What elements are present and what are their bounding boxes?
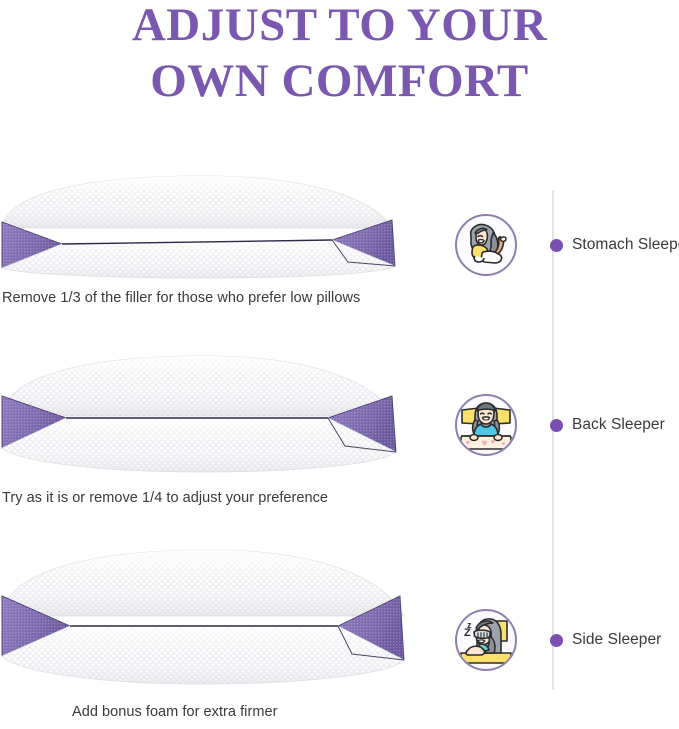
svg-text:Z: Z: [464, 627, 471, 639]
timeline-dot-side: [550, 634, 563, 647]
sleeper-label-side: Side Sleeper: [572, 631, 661, 649]
timeline-dot-stomach: [550, 239, 563, 252]
pillow-illustration-low: [0, 170, 400, 282]
timeline-vertical-line: [552, 190, 554, 690]
pillow-illustration-firm: [0, 548, 410, 694]
back-sleeper-icon: [455, 394, 517, 456]
page-title-line-2: OWN COMFORT: [0, 49, 679, 105]
pillow-image-firm: [0, 548, 400, 694]
pillow-row-low: Remove 1/3 of the filler for those who p…: [0, 170, 440, 306]
pillow-row-medium: Try as it is or remove 1/4 to adjust you…: [0, 352, 440, 506]
sleeper-item-side[interactable]: z Z Side Sleeper: [455, 609, 517, 671]
sleeper-item-stomach[interactable]: Stomach Sleeper: [455, 214, 517, 276]
pillow-image-medium: [0, 352, 400, 480]
pillow-caption-medium: Try as it is or remove 1/4 to adjust you…: [2, 490, 440, 506]
pillow-row-firm: Add bonus foam for extra firmer: [0, 548, 440, 720]
sleeper-item-back[interactable]: Back Sleeper: [455, 394, 517, 456]
page-title: ADJUST TO YOUR OWN COMFORT: [0, 0, 679, 105]
pillow-image-low: [0, 170, 400, 282]
timeline-dot-back: [550, 419, 563, 432]
side-sleeper-icon: z Z: [455, 609, 517, 671]
sleeper-label-stomach: Stomach Sleeper: [572, 236, 679, 254]
pillow-illustration-medium: [0, 352, 400, 480]
page-title-line-1: ADJUST TO YOUR: [0, 0, 679, 49]
stomach-sleeper-icon: [455, 214, 517, 276]
pillow-caption-firm: Add bonus foam for extra firmer: [72, 704, 440, 720]
sleeper-label-back: Back Sleeper: [572, 416, 665, 434]
pillow-caption-low: Remove 1/3 of the filler for those who p…: [2, 290, 440, 306]
